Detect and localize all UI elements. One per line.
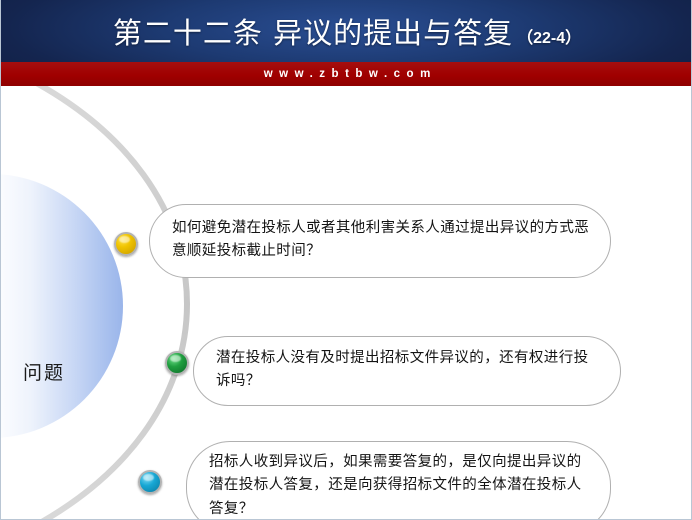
question-bubble-1[interactable]: 如何避免潜在投标人或者其他利害关系人通过提出异议的方式恶意顺延投标截止时间？	[149, 204, 611, 278]
question-bubble-1-text: 如何避免潜在投标人或者其他利害关系人通过提出异议的方式恶意顺延投标截止时间？	[172, 217, 590, 264]
question-bubble-2-text: 潜在投标人没有及时提出招标文件异议的，还有权进行投诉吗？	[216, 347, 600, 394]
slide-title: 第二十二条 异议的提出与答复 （22-4）	[1, 0, 692, 62]
slide-body: 问题 如何避免潜在投标人或者其他利害关系人通过提出异议的方式恶意顺延投标截止时间…	[1, 86, 692, 520]
diagram-center-label: 问题	[23, 358, 143, 385]
bullet-dot-gold	[114, 232, 138, 256]
bullet-dot-gold-highlight	[119, 236, 130, 243]
bullet-dot-green	[165, 351, 189, 375]
bullet-dot-blue	[138, 470, 162, 494]
question-bubble-3-text: 招标人收到异议后，如果需要答复的，是仅向提出异议的潜在投标人答复，还是向获得招标…	[209, 451, 590, 520]
presentation-slide: 第二十二条 异议的提出与答复 （22-4） www.zbtbw.com	[0, 0, 692, 520]
question-bubble-3[interactable]: 招标人收到异议后，如果需要答复的，是仅向提出异议的潜在投标人答复，还是向获得招标…	[186, 441, 611, 520]
slide-title-text: 第二十二条 异议的提出与答复	[113, 10, 513, 52]
slide-title-code: （22-4）	[517, 24, 581, 48]
bullet-dot-blue-highlight	[143, 474, 154, 481]
bullet-dot-green-highlight	[170, 355, 181, 362]
question-bubble-2[interactable]: 潜在投标人没有及时提出招标文件异议的，还有权进行投诉吗？	[193, 336, 621, 406]
website-url-band: www.zbtbw.com	[1, 62, 692, 86]
slide-header-band: 第二十二条 异议的提出与答复 （22-4）	[1, 0, 692, 62]
website-url-text: www.zbtbw.com	[257, 68, 437, 80]
